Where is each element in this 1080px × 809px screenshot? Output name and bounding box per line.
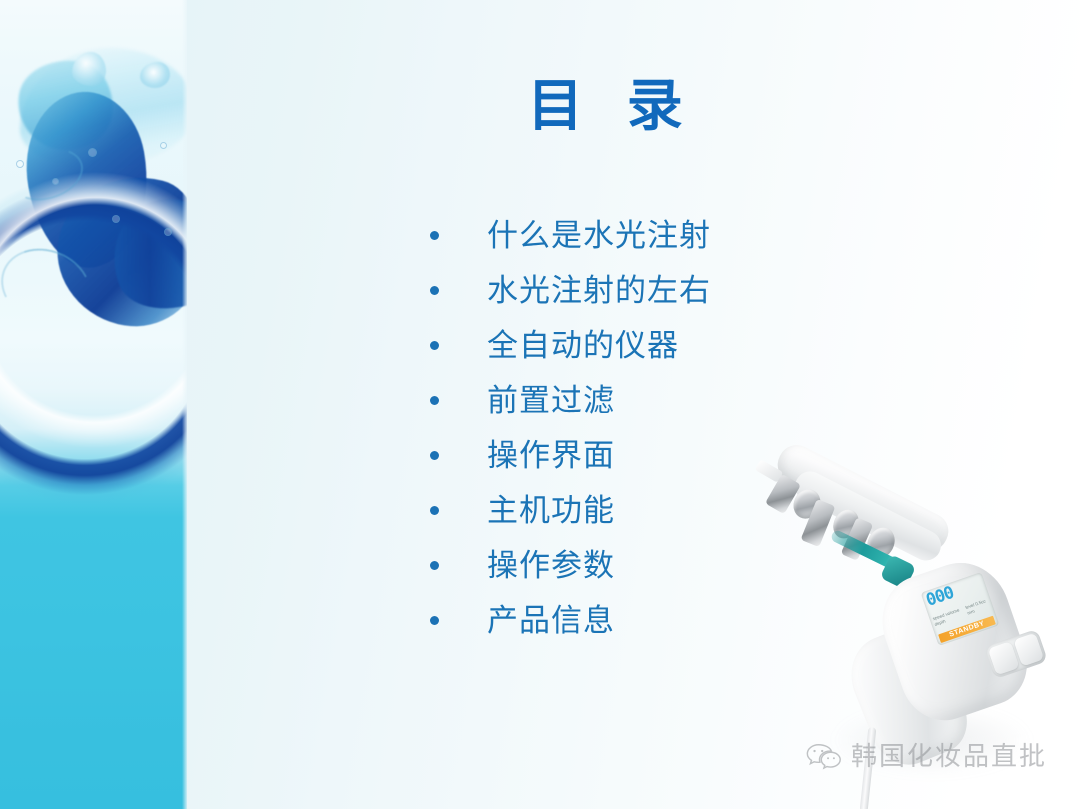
watermark-text: 韩国化妆品直批 bbox=[851, 743, 1047, 769]
device-button-right[interactable] bbox=[1013, 633, 1044, 667]
bullet-icon bbox=[430, 561, 458, 570]
water-crest bbox=[72, 52, 106, 86]
water-bubble bbox=[16, 160, 24, 168]
list-item-label: 主机功能 bbox=[458, 495, 615, 526]
list-item-label: 水光注射的左右 bbox=[458, 275, 711, 306]
bullet-icon bbox=[430, 231, 458, 240]
list-item[interactable]: 前置过滤 bbox=[430, 373, 850, 428]
bullet-icon bbox=[430, 506, 458, 515]
watermark: 韩国化妆品直批 bbox=[806, 742, 1047, 770]
water-bubble bbox=[160, 142, 167, 149]
list-item-label: 产品信息 bbox=[458, 605, 615, 636]
lcd-label-col-1: speed volume depth bbox=[932, 606, 966, 628]
wechat-icon bbox=[806, 742, 842, 770]
lcd-label-col-2: level 0.5cc mm bbox=[965, 597, 991, 617]
panel-edge-fade bbox=[182, 0, 187, 809]
water-splash-image bbox=[0, 0, 187, 809]
bullet-icon bbox=[430, 341, 458, 350]
list-item-label: 操作界面 bbox=[458, 440, 615, 471]
list-item-label: 全自动的仪器 bbox=[458, 330, 679, 361]
water-bubble bbox=[164, 228, 172, 236]
bullet-icon bbox=[430, 286, 458, 295]
water-crest bbox=[140, 62, 170, 88]
device-button-left[interactable] bbox=[988, 641, 1019, 675]
water-bubble bbox=[88, 148, 97, 157]
list-item-label: 操作参数 bbox=[458, 550, 615, 581]
page-title: 目 录 bbox=[380, 74, 830, 138]
slide-root: 目 录 什么是水光注射 水光注射的左右 全自动的仪器 前置过滤 操作界面 主机功… bbox=[0, 0, 1080, 809]
bullet-icon bbox=[430, 616, 458, 625]
list-item-label: 前置过滤 bbox=[458, 385, 615, 416]
water-bubble bbox=[112, 215, 120, 223]
list-item[interactable]: 水光注射的左右 bbox=[430, 263, 850, 318]
list-item[interactable]: 全自动的仪器 bbox=[430, 318, 850, 373]
list-item-label: 什么是水光注射 bbox=[458, 220, 711, 251]
water-bubble bbox=[52, 178, 59, 185]
splash-artwork bbox=[0, 0, 187, 809]
bullet-icon bbox=[430, 451, 458, 460]
list-item[interactable]: 什么是水光注射 bbox=[430, 208, 850, 263]
bullet-icon bbox=[430, 396, 458, 405]
